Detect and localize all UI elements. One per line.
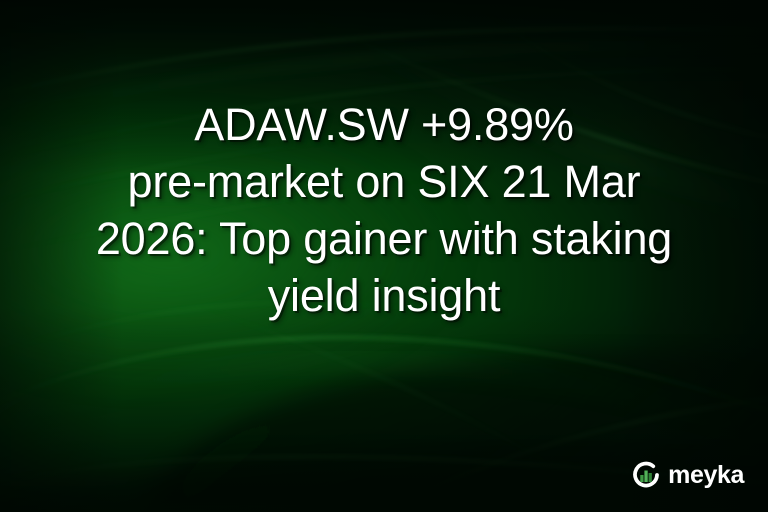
meyka-ring-barchart-icon bbox=[631, 460, 661, 490]
headline-text: ADAW.SW +9.89% pre-market on SIX 21 Mar … bbox=[26, 96, 742, 324]
headline-block: ADAW.SW +9.89% pre-market on SIX 21 Mar … bbox=[0, 96, 768, 324]
brand-wordmark: meyka bbox=[668, 463, 744, 488]
brand-lockup[interactable]: meyka bbox=[631, 460, 744, 490]
market-news-banner-card: ADAW.SW +9.89% pre-market on SIX 21 Mar … bbox=[0, 0, 768, 512]
